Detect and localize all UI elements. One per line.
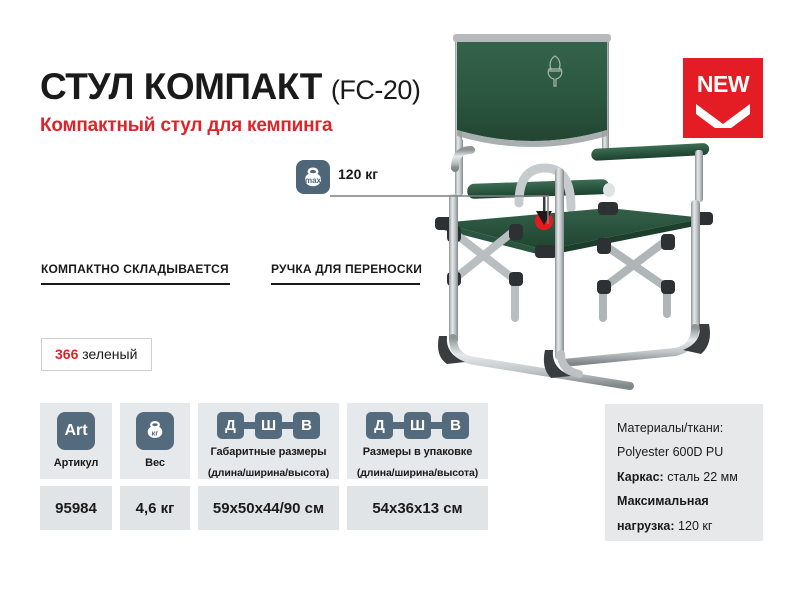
callout-leader-line [330, 178, 580, 228]
spec-header-label: Размеры в упаковке [363, 446, 472, 460]
svg-text:max: max [305, 176, 322, 185]
feature-underline [271, 283, 420, 285]
page-subtitle: Компактный стул для кемпинга [40, 115, 420, 137]
spec-column-package: Д Ш В Размеры в упаковке (длина/ширина/в… [347, 403, 488, 530]
page-title: СТУЛ КОМПАКТ [40, 68, 322, 105]
art-icon: Art [57, 412, 95, 450]
spec-header-label: Артикул [54, 457, 98, 471]
spec-header: Д Ш В Габаритные размеры (длина/ширина/в… [198, 403, 339, 479]
color-name: зеленый [82, 346, 137, 362]
package-dimensions-icon: Д Ш В [366, 412, 469, 439]
materials-panel: Материалы/ткани: Polyester 600D PU Карка… [605, 404, 763, 541]
load-label-line2: нагрузка: [617, 519, 675, 533]
dimensions-icon: Д Ш В [217, 412, 320, 439]
chevron-down-icon [694, 102, 752, 128]
feature-label: КОМПАКТНО СКЛАДЫВАЕТСЯ [41, 262, 230, 276]
spec-column-article: Art Артикул 95984 [40, 403, 112, 530]
dim-connector [282, 422, 293, 429]
dim-connector [244, 422, 255, 429]
materials-value: Polyester 600D PU [617, 440, 753, 464]
spec-header-label: Вес [145, 457, 165, 471]
frame-value: сталь 22 мм [667, 470, 738, 484]
spec-header: Art Артикул [40, 403, 112, 479]
feature-label: РУЧКА ДЛЯ ПЕРЕНОСКИ [271, 262, 422, 276]
product-spec-sheet: СТУЛ КОМПАКТ (FC-20) Компактный стул для… [0, 0, 800, 600]
spec-header: кг Вес [120, 403, 190, 479]
color-code: 366 [55, 346, 78, 362]
dim-height-box: В [293, 412, 320, 439]
page-title-block: СТУЛ КОМПАКТ (FC-20) Компактный стул для… [40, 68, 420, 137]
dim-width-box: Ш [255, 412, 282, 439]
spec-column-weight: кг Вес 4,6 кг [120, 403, 190, 530]
max-load-value: 120 кг [338, 166, 378, 182]
max-weight-icon: max [296, 160, 330, 194]
new-badge-label: NEW [683, 71, 763, 98]
spec-value-weight: 4,6 кг [120, 486, 190, 530]
spec-header: Д Ш В Размеры в упаковке (длина/ширина/в… [347, 403, 488, 479]
spec-header-sublabel: (длина/ширина/высота) [208, 467, 329, 480]
feature-carry-handle: РУЧКА ДЛЯ ПЕРЕНОСКИ [271, 262, 422, 285]
spec-header-sublabel: (длина/ширина/высота) [357, 467, 478, 480]
feature-compact-folding: КОМПАКТНО СКЛАДЫВАЕТСЯ [41, 262, 230, 285]
spec-value-package: 54x36x13 см [347, 486, 488, 530]
dim-length-box: Д [366, 412, 393, 439]
spec-header-label: Габаритные размеры [211, 446, 327, 460]
dim-connector [393, 422, 404, 429]
load-label-line1: Максимальная [617, 489, 753, 513]
dim-connector [431, 422, 442, 429]
dim-width-box: Ш [404, 412, 431, 439]
feature-underline [41, 283, 230, 285]
materials-label: Материалы/ткани: [617, 416, 753, 440]
spec-table: Art Артикул 95984 кг Вес 4,6 кг Д [40, 403, 488, 530]
spec-column-dimensions: Д Ш В Габаритные размеры (длина/ширина/в… [198, 403, 339, 530]
dim-height-box: В [442, 412, 469, 439]
frame-label: Каркас: [617, 470, 664, 484]
dim-length-box: Д [217, 412, 244, 439]
spec-value-article: 95984 [40, 486, 112, 530]
svg-text:кг: кг [152, 429, 159, 438]
model-code: (FC-20) [331, 75, 421, 106]
load-value: 120 кг [678, 519, 712, 533]
weight-kettlebell-icon: кг [136, 412, 174, 450]
color-option-chip[interactable]: 366 зеленый [41, 338, 152, 371]
new-badge: NEW [683, 58, 763, 138]
spec-value-dimensions: 59x50x44/90 см [198, 486, 339, 530]
